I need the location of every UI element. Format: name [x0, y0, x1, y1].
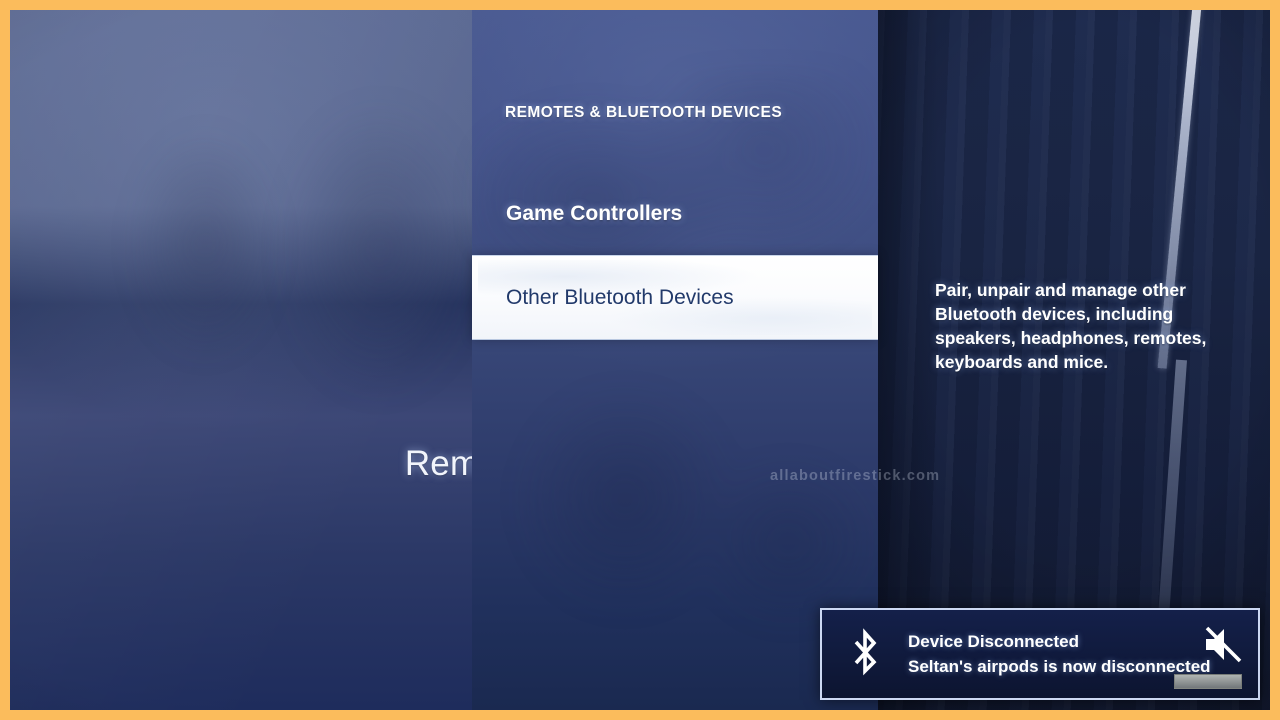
detail-description: Pair, unpair and manage other Bluetooth … [935, 278, 1225, 374]
notification-toast[interactable]: Device Disconnected Seltan's airpods is … [820, 608, 1260, 700]
speaker-muted-icon [1202, 624, 1244, 664]
background-reflection-lower [492, 340, 872, 630]
menu-header: REMOTES & BLUETOOTH DEVICES [505, 104, 782, 122]
bluetooth-icon [848, 628, 882, 680]
toast-title: Device Disconnected [908, 632, 1250, 652]
screen-reflection-artifact [1174, 674, 1242, 689]
bluetooth-icon-container [822, 628, 908, 680]
menu-item-label: Game Controllers [506, 202, 682, 226]
screenshot-frame: Remotes & Bluetooth Devices REMOTES & BL… [0, 0, 1280, 720]
menu-item-label: Other Bluetooth Devices [506, 286, 734, 310]
menu-item-other-bluetooth-devices[interactable]: Other Bluetooth Devices [472, 255, 878, 340]
menu-item-game-controllers[interactable]: Game Controllers [472, 188, 878, 240]
tv-screen: Remotes & Bluetooth Devices REMOTES & BL… [10, 10, 1270, 710]
